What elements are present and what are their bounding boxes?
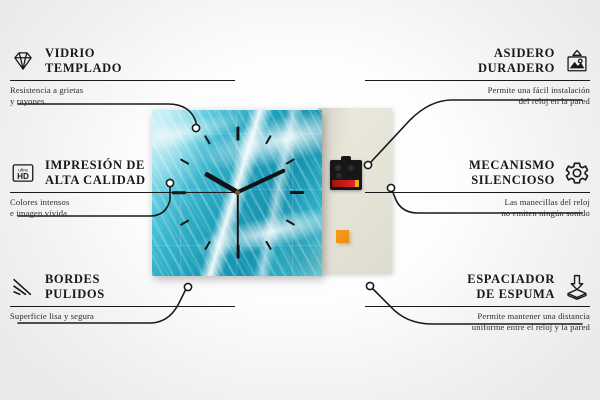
feature-sub-line1: Las manecillas del reloj (365, 197, 590, 209)
feature-divider (365, 80, 590, 81)
feature-title-line2: ALTA CALIDAD (45, 173, 146, 188)
feature-title-line2: DE ESPUMA (467, 287, 555, 302)
foam-spacer (336, 230, 349, 243)
feature-asidero-duradero: ASIDERO DURADERO Permite una fácil insta… (365, 46, 590, 108)
feature-title-line2: TEMPLADO (45, 61, 122, 76)
feature-sub-line2: del reloj en la pared (365, 96, 590, 108)
feature-impresion-alta-calidad: ultra HD IMPRESIÓN DE ALTA CALIDAD Color… (10, 158, 235, 220)
polished-edges-icon (10, 274, 36, 300)
feature-title: ASIDERO DURADERO (478, 46, 555, 76)
clock-mechanism (330, 160, 362, 190)
feature-title: ESPACIADOR DE ESPUMA (467, 272, 555, 302)
feature-title: VIDRIO TEMPLADO (45, 46, 122, 76)
feature-divider (10, 192, 235, 193)
feature-sub-line2: y rayones (10, 96, 235, 108)
feature-divider (10, 306, 235, 307)
feature-sub-line1: Superficie lisa y segura (10, 311, 235, 323)
feature-divider (365, 192, 590, 193)
feature-title-line1: VIDRIO (45, 46, 122, 61)
second-hand (237, 192, 239, 250)
feature-mecanismo-silencioso: MECANISMO SILENCIOSO Las manecillas del … (365, 158, 590, 220)
feature-title-line1: ESPACIADOR (467, 272, 555, 287)
feature-vidrio-templado: VIDRIO TEMPLADO Resistencia a grietas y … (10, 46, 235, 108)
foam-spacer-icon (564, 274, 590, 300)
feature-subtitle: Permite una fácil instalación del reloj … (365, 85, 590, 108)
ultra-hd-icon: ultra HD (10, 160, 36, 186)
mechanism-detail (333, 164, 359, 180)
feature-header: ESPACIADOR DE ESPUMA (365, 272, 590, 302)
diamond-icon (10, 48, 36, 74)
feature-bordes-pulidos: BORDES PULIDOS Superficie lisa y segura (10, 272, 235, 322)
feature-title-line1: BORDES (45, 272, 105, 287)
feature-subtitle: Colores intensos e imagen vívida (10, 197, 235, 220)
connector-asidero (370, 100, 582, 163)
feature-divider (10, 80, 235, 81)
feature-sub-line1: Resistencia a grietas (10, 85, 235, 97)
clock-center-hub (235, 190, 240, 195)
feature-title: IMPRESIÓN DE ALTA CALIDAD (45, 158, 146, 188)
clock-tick (290, 191, 304, 194)
feature-title: MECANISMO SILENCIOSO (469, 158, 555, 188)
feature-sub-line2: uniforme entre el reloj y la pared (365, 322, 590, 334)
feature-title: BORDES PULIDOS (45, 272, 105, 302)
feature-espaciador-de-espuma: ESPACIADOR DE ESPUMA Permite mantener un… (365, 272, 590, 334)
feature-header: VIDRIO TEMPLADO (10, 46, 235, 76)
feature-sub-line1: Colores intensos (10, 197, 235, 209)
mechanism-hanger-tab (341, 156, 351, 162)
ultra-hd-icon-bottom-label: HD (17, 172, 29, 181)
battery (332, 180, 359, 187)
feature-subtitle: Resistencia a grietas y rayones (10, 85, 235, 108)
gear-icon (564, 160, 590, 186)
feature-header: MECANISMO SILENCIOSO (365, 158, 590, 188)
feature-subtitle: Superficie lisa y segura (10, 311, 235, 323)
feature-sub-line2: no emiten ningún sonido (365, 208, 590, 220)
feature-subtitle: Permite mantener una distancia uniforme … (365, 311, 590, 334)
clock-tick (236, 126, 239, 140)
feature-header: ASIDERO DURADERO (365, 46, 590, 76)
feature-title-line2: PULIDOS (45, 287, 105, 302)
feature-title-line1: IMPRESIÓN DE (45, 158, 146, 173)
battery-terminal (355, 180, 359, 187)
feature-title-line1: ASIDERO (478, 46, 555, 61)
feature-title-line1: MECANISMO (469, 158, 555, 173)
infographic-canvas: VIDRIO TEMPLADO Resistencia a grietas y … (0, 0, 600, 400)
feature-sub-line1: Permite mantener una distancia (365, 311, 590, 323)
feature-header: BORDES PULIDOS (10, 272, 235, 302)
hanging-frame-icon (564, 48, 590, 74)
feature-divider (365, 306, 590, 307)
feature-sub-line1: Permite una fácil instalación (365, 85, 590, 97)
feature-sub-line2: e imagen vívida (10, 208, 235, 220)
feature-header: ultra HD IMPRESIÓN DE ALTA CALIDAD (10, 158, 235, 188)
feature-title-line2: SILENCIOSO (469, 173, 555, 188)
feature-subtitle: Las manecillas del reloj no emiten ningú… (365, 197, 590, 220)
feature-title-line2: DURADERO (478, 61, 555, 76)
